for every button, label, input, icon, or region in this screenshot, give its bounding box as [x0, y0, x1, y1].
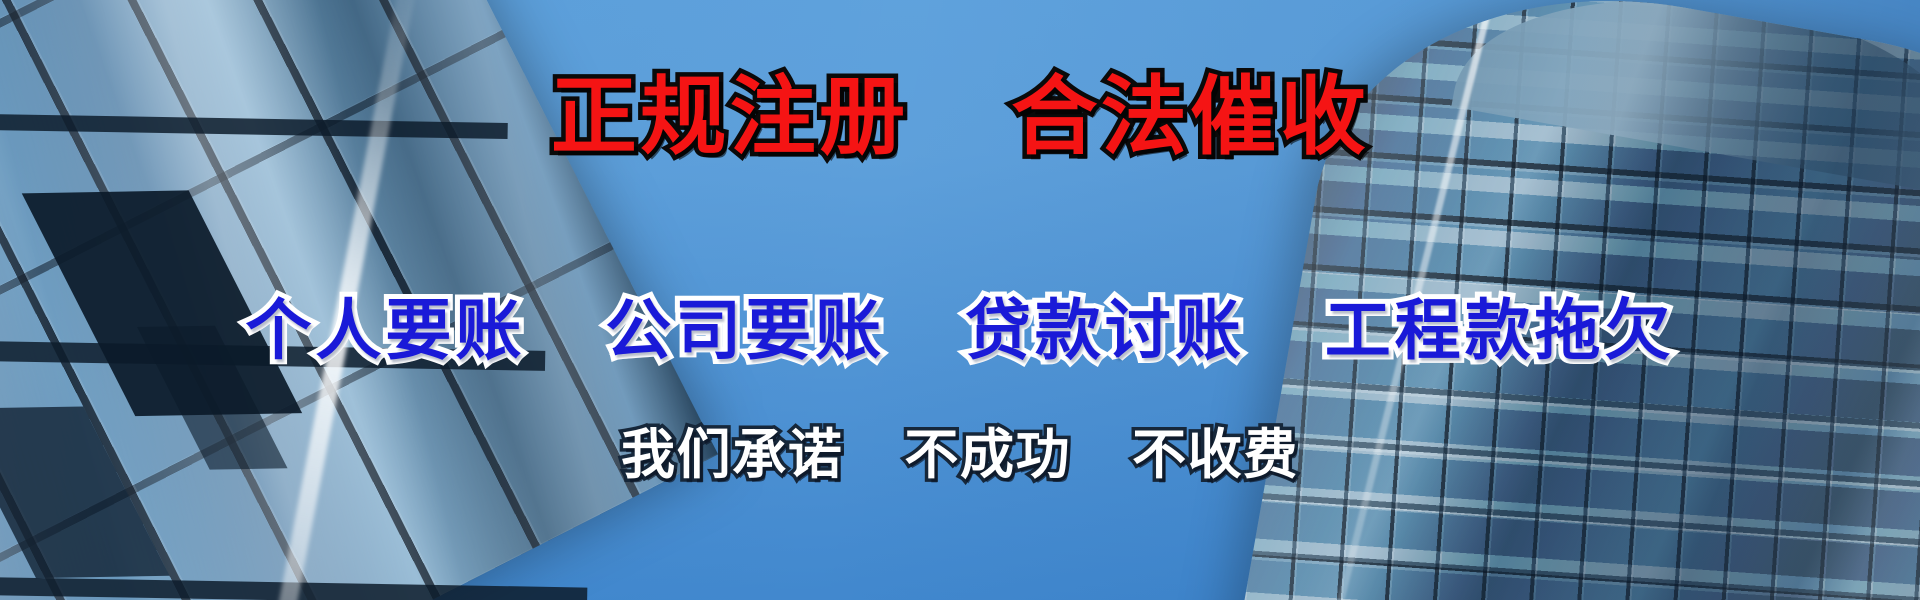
subline-segment-2: 公司要账 — [605, 298, 885, 364]
banner-subheadline: 个人要账 公司要账 贷款讨账 工程款拖欠 — [0, 298, 1920, 364]
subline-segment-1: 个人要账 — [245, 298, 525, 364]
tagline-segment-2: 不成功 — [904, 428, 1071, 482]
headline-segment-2: 合法催收 — [1011, 74, 1369, 160]
tagline-segment-1: 我们承诺 — [621, 428, 843, 482]
tagline-segment-3: 不收费 — [1132, 428, 1299, 482]
banner-text-layer: 正规注册 合法催收 个人要账 公司要账 贷款讨账 工程款拖欠 我们承诺 不成功 … — [0, 0, 1920, 600]
subline-segment-4: 工程款拖欠 — [1325, 298, 1675, 364]
subline-segment-3: 贷款讨账 — [965, 298, 1245, 364]
banner-headline: 正规注册 合法催收 — [0, 74, 1920, 160]
headline-segment-1: 正规注册 — [551, 74, 909, 160]
banner-tagline: 我们承诺 不成功 不收费 — [0, 428, 1920, 482]
promotional-banner: 正规注册 合法催收 个人要账 公司要账 贷款讨账 工程款拖欠 我们承诺 不成功 … — [0, 0, 1920, 600]
